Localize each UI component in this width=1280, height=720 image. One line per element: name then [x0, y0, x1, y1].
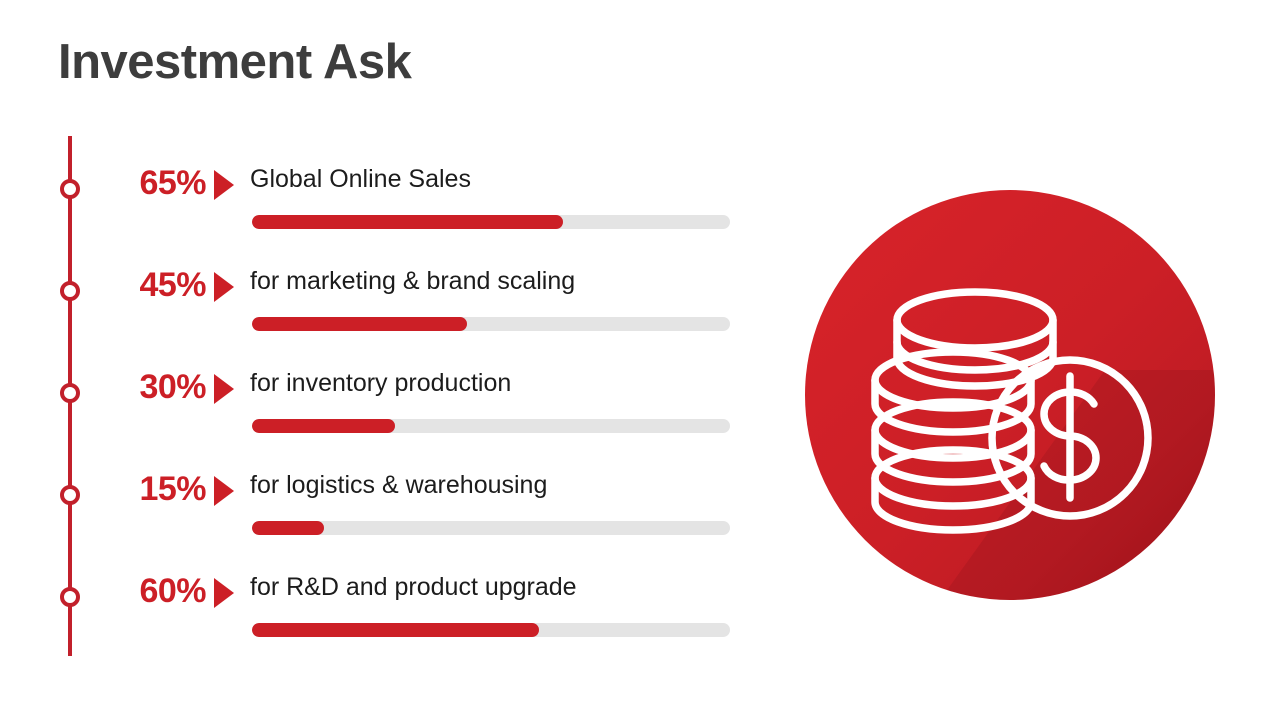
triangle-right-icon	[214, 374, 234, 404]
allocation-percent: 45%	[96, 268, 206, 302]
progress-bar-fill	[252, 623, 539, 637]
progress-bar-fill	[252, 317, 467, 331]
triangle-right-icon	[214, 578, 234, 608]
progress-bar-track	[252, 215, 730, 229]
money-coins-circle-illustration	[805, 190, 1215, 600]
allocation-label: for R&D and product upgrade	[250, 574, 577, 602]
allocation-label: for inventory production	[250, 370, 511, 398]
allocation-item: 45%for marketing & brand scaling	[0, 238, 780, 340]
allocation-item: 60%for R&D and product upgrade	[0, 544, 780, 646]
allocation-label: for logistics & warehousing	[250, 472, 547, 500]
allocation-item: 65%Global Online Sales	[0, 136, 780, 238]
progress-bar-fill	[252, 521, 324, 535]
triangle-right-icon	[214, 272, 234, 302]
timeline-node-icon	[60, 179, 80, 199]
progress-bar-fill	[252, 419, 395, 433]
allocation-percent: 15%	[96, 472, 206, 506]
slide-canvas: Investment Ask 65%Global Online Sales45%…	[0, 0, 1280, 720]
triangle-right-icon	[214, 476, 234, 506]
progress-bar-track	[252, 317, 730, 331]
allocation-label: Global Online Sales	[250, 166, 471, 194]
timeline-node-icon	[60, 281, 80, 301]
allocation-percent: 65%	[96, 166, 206, 200]
progress-bar-fill	[252, 215, 563, 229]
allocation-item: 15%for logistics & warehousing	[0, 442, 780, 544]
timeline-node-icon	[60, 485, 80, 505]
timeline-node-icon	[60, 587, 80, 607]
allocation-percent: 60%	[96, 574, 206, 608]
triangle-right-icon	[214, 170, 234, 200]
timeline-node-icon	[60, 383, 80, 403]
progress-bar-track	[252, 419, 730, 433]
progress-bar-track	[252, 623, 730, 637]
allocation-item: 30%for inventory production	[0, 340, 780, 442]
progress-bar-track	[252, 521, 730, 535]
allocation-label: for marketing & brand scaling	[250, 268, 575, 296]
allocation-percent: 30%	[96, 370, 206, 404]
